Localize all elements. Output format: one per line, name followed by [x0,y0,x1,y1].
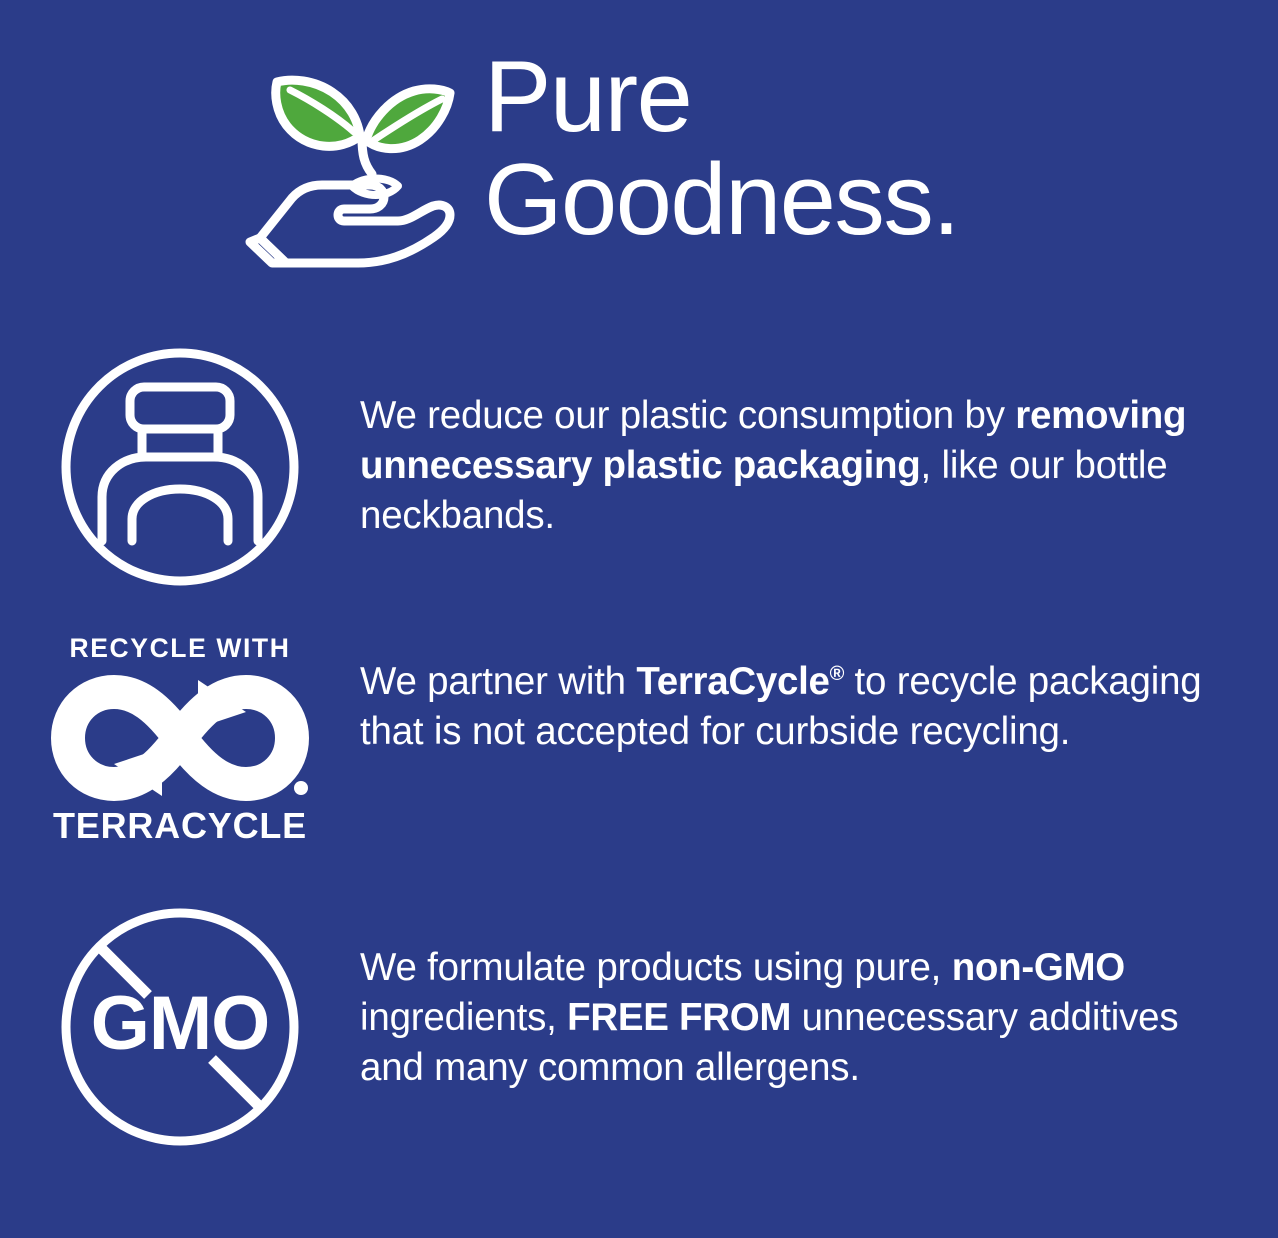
text-segment: We reduce our plastic consumption by [360,394,1015,437]
brand-lockup: Pure Goodness. [248,52,959,270]
text-segment: We formulate products using pure, [360,946,952,989]
bottle-neckband-circle-icon [0,345,360,589]
terracycle-top-label: RECYCLE WITH [70,635,291,662]
text-segment-bold: FREE FROM [567,996,791,1039]
page-title: Pure Goodness. [484,46,959,252]
text-segment: ingredients, [360,996,567,1039]
text-segment-bold: non-GMO [952,946,1125,989]
registered-mark: ® [830,663,844,685]
terracycle-logo: RECYCLE WITH TERRACYCLE [0,635,360,844]
text-segment-bold: TerraCycle® [636,660,844,703]
pure-goodness-infographic: { "theme": { "background_color": "#2B3C8… [0,0,1278,1238]
feature-row-terracycle: RECYCLE WITH TERRACYCLE W [0,635,1278,844]
brand-name-terracycle: TerraCycle [636,660,829,703]
gmo-label: GMO [91,981,270,1066]
text-segment: We partner with [360,660,636,703]
terracycle-bottom-label: TERRACYCLE [53,808,307,844]
feature-row-plastic: We reduce our plastic consumption by rem… [0,345,1278,589]
feature-text-terracycle: We partner with TerraCycle® to recycle p… [360,635,1278,757]
feature-row-gmo: GMO We formulate products using pure, no… [0,905,1278,1149]
terracycle-infinity-icon [46,672,314,804]
no-gmo-circle-icon: GMO [0,905,360,1149]
hand-holding-sprout-icon [248,58,458,270]
feature-text-gmo: We formulate products using pure, non-GM… [360,905,1278,1093]
feature-text-plastic: We reduce our plastic consumption by rem… [360,345,1278,541]
